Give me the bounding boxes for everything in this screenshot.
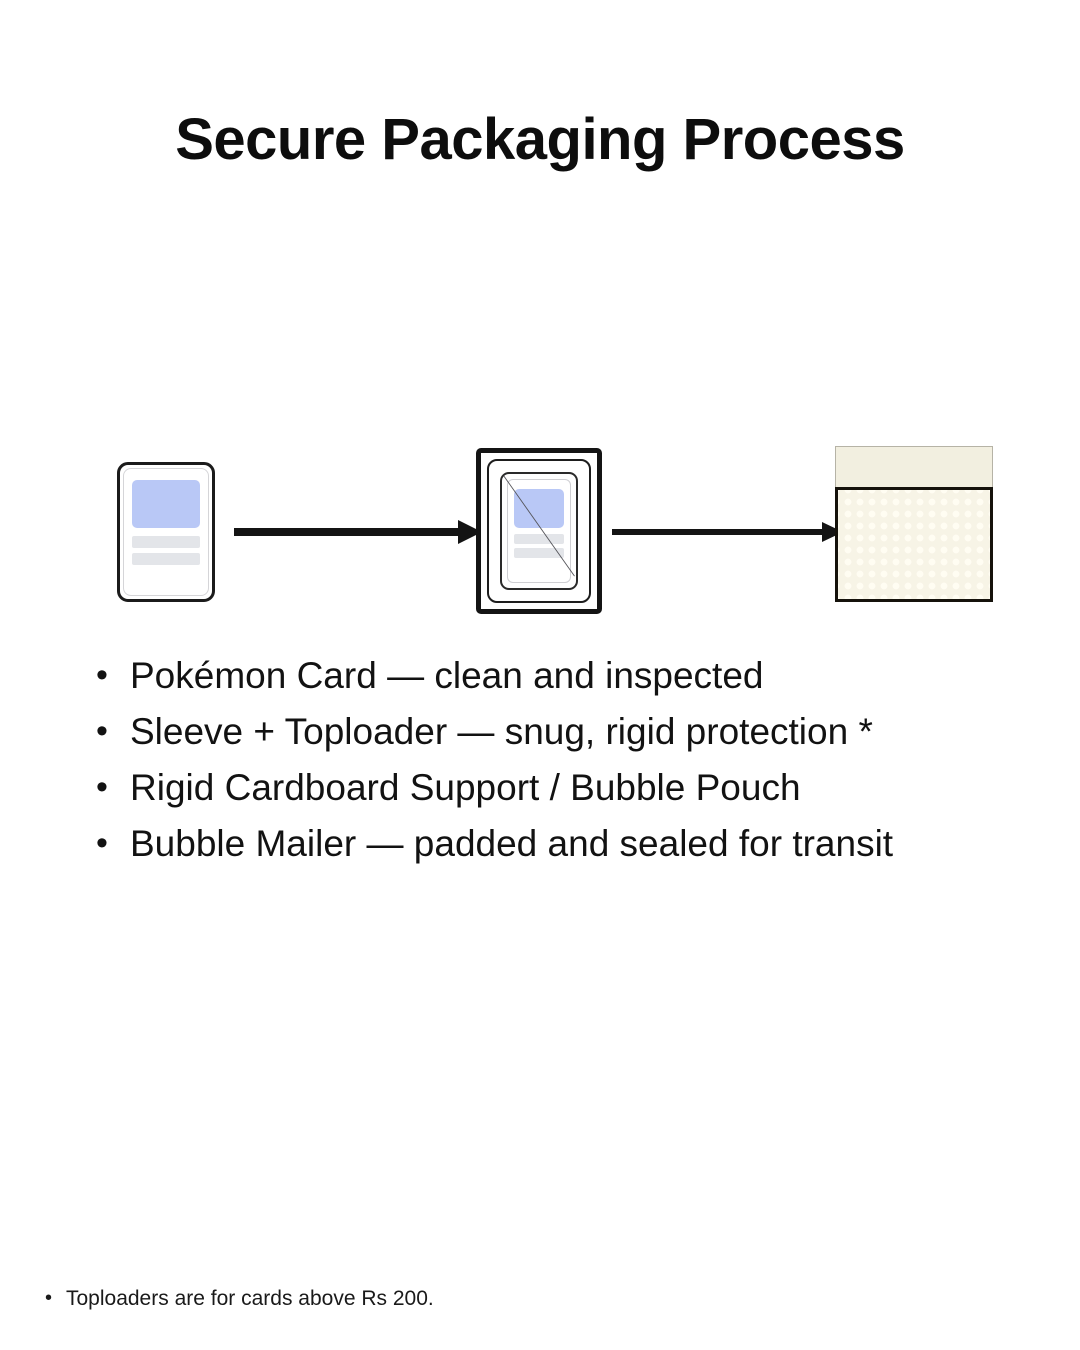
diagram-stage-sleeve-toploader [476,448,602,614]
card-artwork-block [132,480,201,528]
diagram-stage-card [117,462,215,602]
card-text-line-1 [132,536,201,548]
arrow-card-to-toploader-icon [232,516,484,548]
sleeved-card-artwork-block [514,489,565,528]
packaging-steps-list: Pokémon Card — clean and inspected Sleev… [92,648,1052,872]
footnote-item: Toploaders are for cards above Rs 200. [42,1284,942,1314]
footnote-list: Toploaders are for cards above Rs 200. [42,1284,942,1314]
list-item: Rigid Cardboard Support / Bubble Pouch [92,760,1052,816]
arrow-toploader-to-mailer-icon [610,518,845,546]
list-item: Bubble Mailer — padded and sealed for tr… [92,816,1052,872]
toploader-outline [476,448,602,614]
sleeved-card [507,479,571,583]
list-item: Pokémon Card — clean and inspected [92,648,1052,704]
card-text-line-2 [132,553,201,565]
mailer-flap [835,446,993,488]
sleeve-outline [500,472,578,590]
slide-root: { "slide": { "title": "Secure Packaging … [0,0,1080,1350]
page-title: Secure Packaging Process [0,108,1080,172]
list-item: Sleeve + Toploader — snug, rigid protect… [92,704,1052,760]
card-inner-border [123,468,209,596]
card-outline [117,462,215,602]
packaging-flow-diagram [0,440,1080,620]
toploader-inner-wall [487,459,591,603]
sleeved-card-text-line-2 [514,548,565,558]
diagram-stage-bubble-mailer [835,446,993,602]
sleeved-card-text-line-1 [514,534,565,544]
bubble-wrap-texture [838,490,990,599]
mailer-body [835,487,993,602]
